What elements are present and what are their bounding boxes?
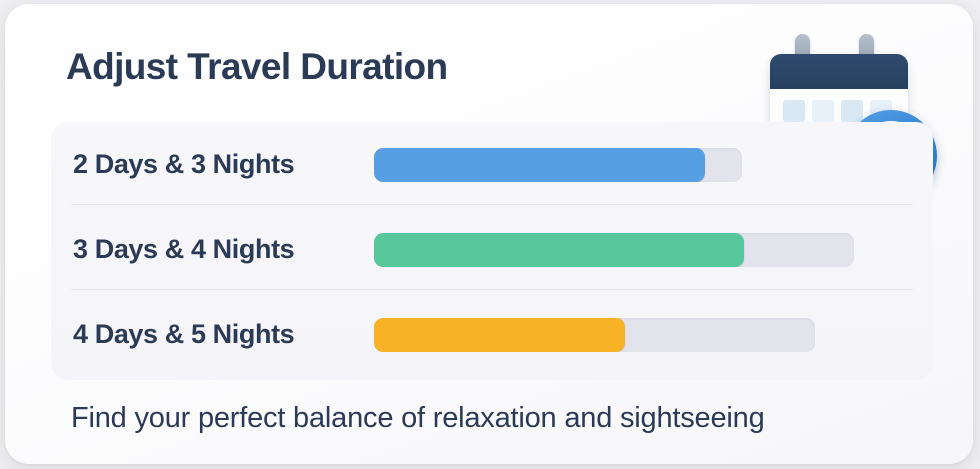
duration-option-label: 3 Days & 4 Nights [73,234,294,265]
duration-option-label: 4 Days & 5 Nights [73,319,294,350]
duration-option-row[interactable]: 3 Days & 4 Nights [51,207,933,292]
travel-duration-card: Adjust Travel Duration [5,4,973,464]
duration-option-row[interactable]: 2 Days & 3 Nights [51,122,933,207]
duration-slider-track[interactable] [374,233,854,267]
calendar-day-cell [812,100,834,122]
page-title: Adjust Travel Duration [66,46,448,88]
duration-option-label: 2 Days & 3 Nights [73,149,294,180]
calendar-header-bar [770,54,908,89]
duration-slider-fill [374,318,625,352]
duration-slider-track[interactable] [374,148,742,182]
duration-slider-fill [374,148,705,182]
calendar-day-cell [783,100,805,122]
screen: Adjust Travel Duration [0,0,980,469]
duration-option-row[interactable]: 4 Days & 5 Nights [51,292,933,377]
calendar-day-cell [841,100,863,122]
duration-slider-track[interactable] [374,318,815,352]
footer-subtitle: Find your perfect balance of relaxation … [71,402,765,435]
duration-slider-fill [374,233,744,267]
duration-options-panel: 2 Days & 3 Nights 3 Days & 4 Nights 4 Da… [51,122,933,380]
